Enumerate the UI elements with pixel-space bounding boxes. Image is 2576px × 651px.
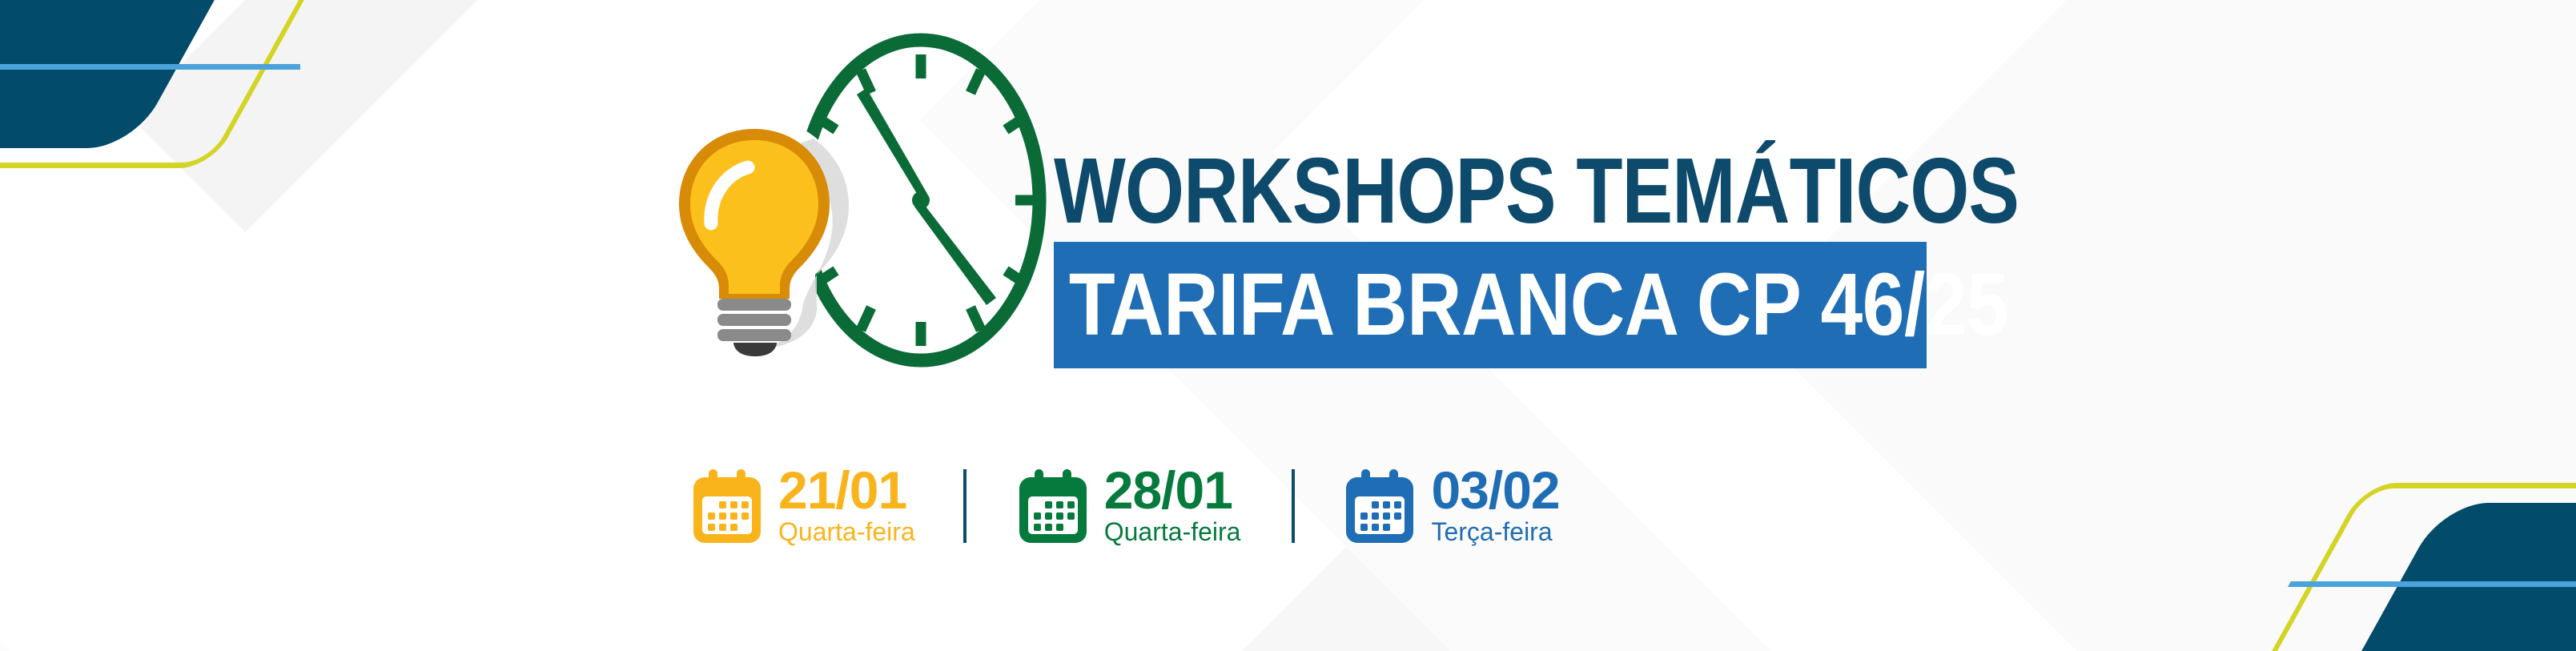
page-title: WORKSHOPS TEMÁTICOS [1054,148,1789,234]
date-separator [1292,469,1295,543]
date-value: 03/02 [1431,465,1559,516]
top-left-blue-accent-line-extension [204,64,300,70]
calendar-icon [689,468,766,545]
lightbulb-icon [665,116,853,356]
calendar-icon [1015,468,1091,545]
subtitle-band: TARIFA BRANCA CP 46/25 [1054,242,1927,368]
date-list: 21/01 Quarta-feira [689,458,1560,554]
page-subtitle: TARIFA BRANCA CP 46/25 [1054,261,2008,349]
calendar-icon [1341,468,1418,545]
date-text-group: 03/02 Terça-feira [1431,465,1559,546]
date-text-group: 28/01 Quarta-feira [1104,465,1241,546]
date-value: 28/01 [1104,465,1241,516]
date-weekday: Quarta-feira [778,517,915,547]
headline-block: WORKSHOPS TEMÁTICOS TARIFA BRANCA CP 46/… [1054,148,1951,368]
bottom-right-blue-accent-line [2288,581,2576,587]
date-item: 28/01 Quarta-feira [1015,465,1241,546]
date-value: 21/01 [778,465,915,516]
event-banner: WORKSHOPS TEMÁTICOS TARIFA BRANCA CP 46/… [0,0,2576,651]
date-separator [963,469,967,543]
date-weekday: Terça-feira [1431,517,1559,547]
date-text-group: 21/01 Quarta-feira [778,465,915,546]
date-item: 21/01 Quarta-feira [689,465,915,546]
banner-illustration [665,32,1081,400]
date-item: 03/02 Terça-feira [1341,465,1559,546]
date-weekday: Quarta-feira [1104,517,1241,547]
